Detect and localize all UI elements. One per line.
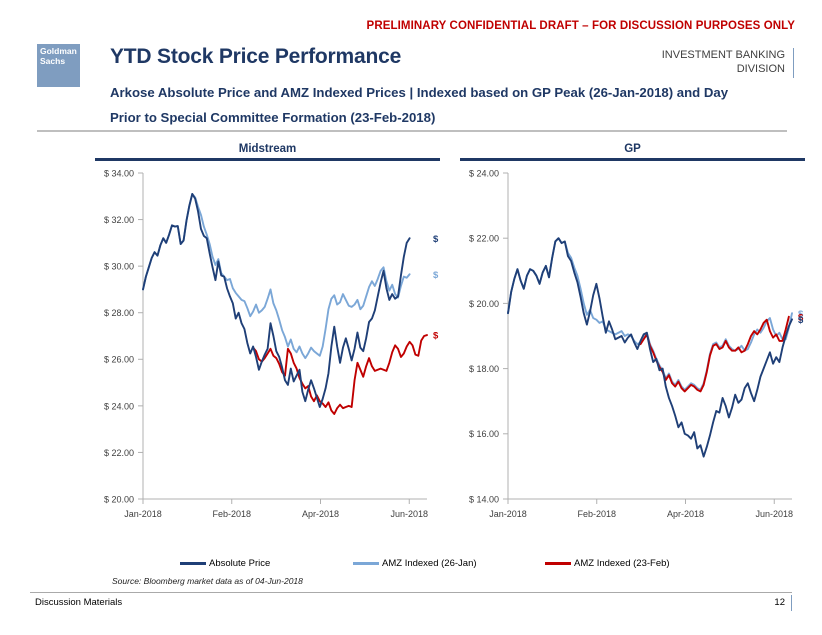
page-subtitle: Arkose Absolute Price and AMZ Indexed Pr… [110,80,730,130]
legend-label-amz-26jan: AMZ Indexed (26-Jan) [382,558,477,569]
x-axis-tick-label: Jan-2018 [124,509,162,519]
data-label: $ 31.20 [433,233,440,244]
division-line-1: INVESTMENT BANKING [662,48,785,62]
confidential-banner: PRELIMINARY CONFIDENTIAL DRAFT – FOR DIS… [0,20,795,32]
y-axis-tick-label: $ 24.00 [104,401,134,411]
legend-swatch-absolute-price [180,562,206,565]
slide: PRELIMINARY CONFIDENTIAL DRAFT – FOR DIS… [0,0,822,635]
legend-item-amz-23feb: AMZ Indexed (23-Feb) [545,558,670,569]
series-line-amz-indexed-23-feb [253,335,427,414]
y-axis-tick-label: $ 30.00 [104,261,134,271]
series-line-amz-indexed-23-feb [641,316,789,391]
chart-legend: Absolute Price AMZ Indexed (26-Jan) AMZ … [95,558,795,574]
x-axis-tick-label: Apr-2018 [667,509,704,519]
y-axis-tick-label: $ 22.00 [104,447,134,457]
page-title: YTD Stock Price Performance [110,45,401,69]
data-label: $ 29.65 [433,269,440,280]
legend-swatch-amz-26jan [353,562,379,565]
series-line-absolute-price [143,193,410,406]
y-axis-tick-label: $ 24.00 [469,168,499,178]
chart-title-gp: GP [460,143,805,158]
plot-midstream: $ 20.00$ 22.00$ 24.00$ 26.00$ 28.00$ 30.… [95,161,440,536]
legend-swatch-amz-23feb [545,562,571,565]
y-axis-tick-label: $ 20.00 [104,494,134,504]
division-line-2: DIVISION [662,62,785,76]
source-note: Source: Bloomberg market data as of 04-J… [112,576,303,586]
x-axis-tick-label: Jan-2018 [489,509,527,519]
chart-panel-gp: GP $ 14.00$ 16.00$ 18.00$ 20.00$ 22.00$ … [460,143,805,543]
series-line-amz-indexed-26-jan [143,193,410,357]
y-axis-tick-label: $ 22.00 [469,233,499,243]
legend-label-absolute-price: Absolute Price [209,558,270,569]
header-divider [37,130,787,132]
chart-title-midstream: Midstream [95,143,440,158]
x-axis-tick-label: Feb-2018 [577,509,616,519]
chart-panel-midstream: Midstream $ 20.00$ 22.00$ 24.00$ 26.00$ … [95,143,440,543]
legend-item-absolute-price: Absolute Price [180,558,270,569]
y-axis-tick-label: $ 32.00 [104,214,134,224]
x-axis-tick-label: Feb-2018 [212,509,251,519]
y-axis-tick-label: $ 14.00 [469,494,499,504]
division-label: INVESTMENT BANKING DIVISION [662,48,792,76]
x-axis-tick-label: Jun-2018 [390,509,428,519]
logo-line-2: Sachs [40,57,80,67]
data-label: $ 27.04 [433,330,440,341]
footer-label: Discussion Materials [35,597,122,608]
legend-item-amz-26jan: AMZ Indexed (26-Jan) [353,558,477,569]
y-axis-tick-label: $ 20.00 [469,298,499,308]
footer-divider [30,592,792,593]
y-axis-tick-label: $ 28.00 [104,308,134,318]
y-axis-tick-label: $ 26.00 [104,354,134,364]
data-label: $ 19.51 [798,314,805,325]
series-line-amz-indexed-26-jan [508,238,792,390]
y-axis-tick-label: $ 16.00 [469,429,499,439]
y-axis-tick-label: $ 18.00 [469,364,499,374]
x-axis-tick-label: Apr-2018 [302,509,339,519]
goldman-sachs-logo: Goldman Sachs [37,44,80,87]
page-number: 12 [774,597,785,608]
plot-gp: $ 14.00$ 16.00$ 18.00$ 20.00$ 22.00$ 24.… [460,161,805,536]
legend-label-amz-23feb: AMZ Indexed (23-Feb) [574,558,670,569]
page-number-divider [791,595,792,611]
division-divider [793,48,794,78]
x-axis-tick-label: Jun-2018 [755,509,793,519]
y-axis-tick-label: $ 34.00 [104,168,134,178]
